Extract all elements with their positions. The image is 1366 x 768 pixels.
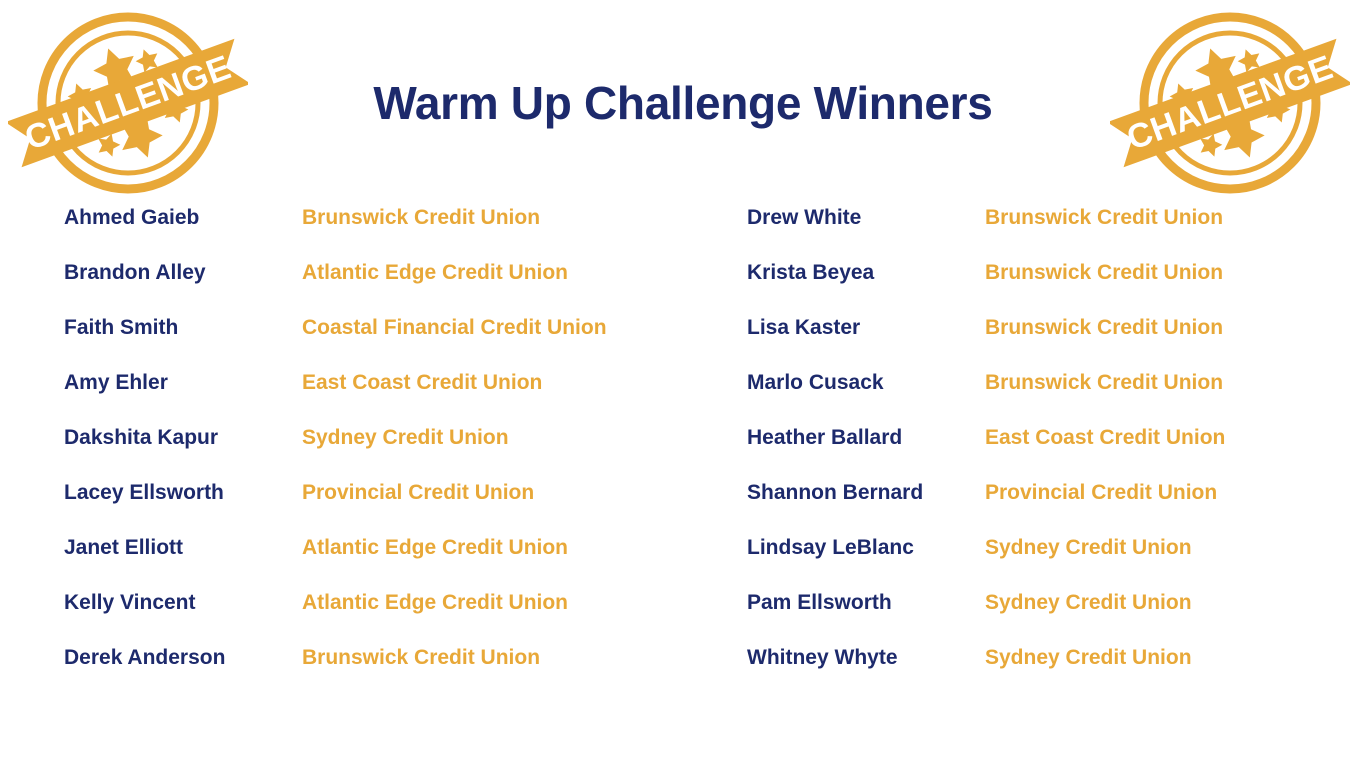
- winner-row: Brandon Alley Atlantic Edge Credit Union: [64, 261, 683, 316]
- winner-organization: Atlantic Edge Credit Union: [302, 536, 568, 560]
- winner-name: Krista Beyea: [747, 261, 985, 285]
- winner-organization: Brunswick Credit Union: [302, 646, 540, 670]
- winner-organization: Sydney Credit Union: [985, 536, 1192, 560]
- winner-organization: East Coast Credit Union: [302, 371, 542, 395]
- winner-organization: Brunswick Credit Union: [302, 206, 540, 230]
- winner-name: Brandon Alley: [64, 261, 302, 285]
- winner-row: Kelly Vincent Atlantic Edge Credit Union: [64, 591, 683, 646]
- winner-row: Lisa Kaster Brunswick Credit Union: [747, 316, 1366, 371]
- winner-organization: Brunswick Credit Union: [985, 316, 1223, 340]
- winner-row: Krista Beyea Brunswick Credit Union: [747, 261, 1366, 316]
- winner-organization: Brunswick Credit Union: [985, 206, 1223, 230]
- winner-organization: Atlantic Edge Credit Union: [302, 591, 568, 615]
- winner-row: Heather Ballard East Coast Credit Union: [747, 426, 1366, 481]
- slide: CHALLENGE Warm Up Challenge Winners: [0, 0, 1366, 768]
- winner-organization: Provincial Credit Union: [302, 481, 534, 505]
- winner-row: Marlo Cusack Brunswick Credit Union: [747, 371, 1366, 426]
- winner-row: Whitney Whyte Sydney Credit Union: [747, 646, 1366, 701]
- winner-organization: Sydney Credit Union: [985, 646, 1192, 670]
- winner-row: Drew White Brunswick Credit Union: [747, 206, 1366, 261]
- winner-name: Derek Anderson: [64, 646, 302, 670]
- page-title: Warm Up Challenge Winners: [260, 78, 1106, 129]
- winner-name: Lisa Kaster: [747, 316, 985, 340]
- winner-row: Pam Ellsworth Sydney Credit Union: [747, 591, 1366, 646]
- winner-name: Amy Ehler: [64, 371, 302, 395]
- winner-name: Whitney Whyte: [747, 646, 985, 670]
- winner-organization: Sydney Credit Union: [302, 426, 509, 450]
- winners-column-right: Drew White Brunswick Credit Union Krista…: [683, 206, 1366, 701]
- winner-name: Kelly Vincent: [64, 591, 302, 615]
- winner-row: Amy Ehler East Coast Credit Union: [64, 371, 683, 426]
- winner-organization: Sydney Credit Union: [985, 591, 1192, 615]
- winner-name: Dakshita Kapur: [64, 426, 302, 450]
- winner-name: Marlo Cusack: [747, 371, 985, 395]
- winner-row: Lacey Ellsworth Provincial Credit Union: [64, 481, 683, 536]
- winner-row: Faith Smith Coastal Financial Credit Uni…: [64, 316, 683, 371]
- winner-name: Faith Smith: [64, 316, 302, 340]
- winner-name: Lacey Ellsworth: [64, 481, 302, 505]
- challenge-badge-left-icon: CHALLENGE: [8, 8, 248, 198]
- winner-organization: Atlantic Edge Credit Union: [302, 261, 568, 285]
- winner-row: Ahmed Gaieb Brunswick Credit Union: [64, 206, 683, 261]
- winners-list: Ahmed Gaieb Brunswick Credit Union Brand…: [0, 206, 1366, 701]
- slide-header: CHALLENGE Warm Up Challenge Winners: [0, 0, 1366, 200]
- winner-name: Lindsay LeBlanc: [747, 536, 985, 560]
- winner-row: Shannon Bernard Provincial Credit Union: [747, 481, 1366, 536]
- winner-organization: East Coast Credit Union: [985, 426, 1225, 450]
- winner-organization: Provincial Credit Union: [985, 481, 1217, 505]
- winner-organization: Brunswick Credit Union: [985, 371, 1223, 395]
- challenge-badge-right-icon: CHALLENGE: [1110, 8, 1350, 198]
- winner-name: Drew White: [747, 206, 985, 230]
- winner-row: Janet Elliott Atlantic Edge Credit Union: [64, 536, 683, 591]
- winner-name: Pam Ellsworth: [747, 591, 985, 615]
- winner-name: Shannon Bernard: [747, 481, 985, 505]
- winner-organization: Coastal Financial Credit Union: [302, 316, 607, 340]
- winner-name: Ahmed Gaieb: [64, 206, 302, 230]
- winner-name: Janet Elliott: [64, 536, 302, 560]
- winner-row: Derek Anderson Brunswick Credit Union: [64, 646, 683, 701]
- winners-column-left: Ahmed Gaieb Brunswick Credit Union Brand…: [0, 206, 683, 701]
- winner-name: Heather Ballard: [747, 426, 985, 450]
- winner-organization: Brunswick Credit Union: [985, 261, 1223, 285]
- winner-row: Dakshita Kapur Sydney Credit Union: [64, 426, 683, 481]
- winner-row: Lindsay LeBlanc Sydney Credit Union: [747, 536, 1366, 591]
